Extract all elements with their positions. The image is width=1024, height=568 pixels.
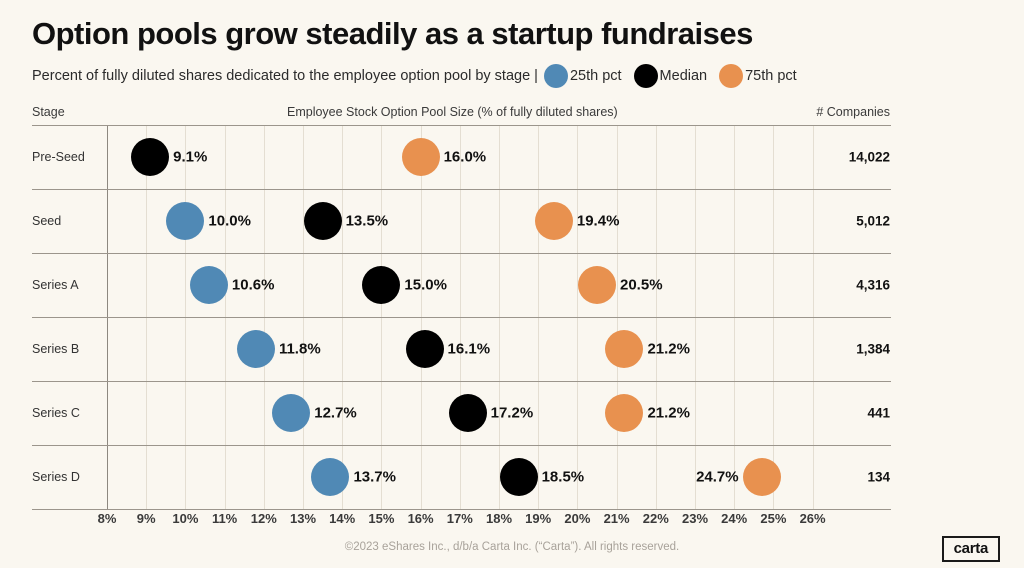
- row-separator: [32, 509, 891, 510]
- data-point-label: 21.2%: [647, 341, 690, 358]
- data-point-75th-pct[interactable]: [535, 202, 573, 240]
- page-title: Option pools grow steadily as a startup …: [32, 16, 753, 52]
- x-axis-tick: 19%: [525, 511, 551, 526]
- data-point-25th-pct[interactable]: [237, 330, 275, 368]
- data-point-25th-pct[interactable]: [272, 394, 310, 432]
- data-point-label: 24.7%: [696, 469, 739, 486]
- table-row[interactable]: Pre-Seed14,0229.1%16.0%: [0, 125, 1024, 189]
- legend-median-label: Median: [660, 68, 708, 84]
- x-axis-tick: 24%: [721, 511, 747, 526]
- legend-25th-pct: 25th pct: [544, 64, 632, 88]
- row-value-companies: 441: [867, 406, 890, 421]
- data-point-median[interactable]: [449, 394, 487, 432]
- data-point-label: 17.2%: [491, 405, 534, 422]
- x-axis-tick: 11%: [212, 511, 237, 526]
- subtitle-and-legend: Percent of fully diluted shares dedicate…: [32, 64, 809, 88]
- x-axis-tick: 22%: [643, 511, 669, 526]
- chart-page: Option pools grow steadily as a startup …: [0, 0, 1024, 568]
- x-axis-tick: 13%: [290, 511, 316, 526]
- legend-75th-pct-label: 75th pct: [745, 68, 797, 84]
- legend-25th-pct-dot-icon: [544, 64, 568, 88]
- legend-75th-pct: 75th pct: [719, 64, 807, 88]
- x-axis-tick: 23%: [682, 511, 708, 526]
- row-value-companies: 1,384: [856, 342, 890, 357]
- data-point-label: 12.7%: [314, 405, 357, 422]
- row-label-stage: Series A: [32, 278, 79, 292]
- data-point-median[interactable]: [131, 138, 169, 176]
- data-point-25th-pct[interactable]: [190, 266, 228, 304]
- x-axis-tick: 14%: [329, 511, 355, 526]
- legend: 25th pctMedian75th pct: [544, 64, 809, 88]
- data-point-median[interactable]: [362, 266, 400, 304]
- x-axis-tick: 10%: [172, 511, 198, 526]
- column-header-pool-size: Employee Stock Option Pool Size (% of fu…: [287, 105, 618, 119]
- data-point-label: 21.2%: [647, 405, 690, 422]
- column-header-companies: # Companies: [816, 105, 890, 119]
- column-header-stage: Stage: [32, 105, 65, 119]
- data-point-median[interactable]: [304, 202, 342, 240]
- data-point-75th-pct[interactable]: [605, 394, 643, 432]
- data-point-label: 11.8%: [279, 341, 321, 358]
- data-point-label: 18.5%: [542, 469, 585, 486]
- data-point-label: 10.0%: [208, 213, 251, 230]
- legend-25th-pct-label: 25th pct: [570, 68, 622, 84]
- row-value-companies: 4,316: [856, 278, 890, 293]
- data-point-label: 13.5%: [346, 213, 389, 230]
- data-point-label: 15.0%: [404, 277, 447, 294]
- table-row[interactable]: Series D13413.7%18.5%24.7%: [0, 445, 1024, 509]
- data-point-label: 20.5%: [620, 277, 663, 294]
- row-value-companies: 5,012: [856, 214, 890, 229]
- data-point-75th-pct[interactable]: [402, 138, 440, 176]
- legend-75th-pct-dot-icon: [719, 64, 743, 88]
- carta-logo: carta: [942, 536, 1000, 562]
- x-axis-tick: 15%: [368, 511, 394, 526]
- row-label-stage: Series B: [32, 342, 79, 356]
- x-axis-tick: 20%: [564, 511, 590, 526]
- x-axis-tick: 12%: [251, 511, 277, 526]
- data-point-25th-pct[interactable]: [166, 202, 204, 240]
- table-row[interactable]: Series C44112.7%17.2%21.2%: [0, 381, 1024, 445]
- footer-copyright: ©2023 eShares Inc., d/b/a Carta Inc. (“C…: [0, 541, 1024, 553]
- data-point-label: 16.0%: [444, 149, 487, 166]
- data-point-label: 16.1%: [448, 341, 491, 358]
- row-value-companies: 134: [867, 470, 890, 485]
- x-axis-tick: 16%: [408, 511, 434, 526]
- legend-median: Median: [634, 64, 718, 88]
- table-row[interactable]: Series A4,31610.6%15.0%20.5%: [0, 253, 1024, 317]
- table-top-rule: [32, 125, 891, 126]
- table-row[interactable]: Series B1,38411.8%16.1%21.2%: [0, 317, 1024, 381]
- x-axis-tick: 18%: [486, 511, 512, 526]
- data-point-median[interactable]: [406, 330, 444, 368]
- row-value-companies: 14,022: [849, 150, 890, 165]
- data-point-75th-pct[interactable]: [743, 458, 781, 496]
- table-row[interactable]: Seed5,01210.0%13.5%19.4%: [0, 189, 1024, 253]
- row-label-stage: Series D: [32, 470, 80, 484]
- data-point-label: 10.6%: [232, 277, 275, 294]
- x-axis-tick: 8%: [98, 511, 117, 526]
- data-point-25th-pct[interactable]: [311, 458, 349, 496]
- row-label-stage: Pre-Seed: [32, 150, 85, 164]
- x-axis: 8%9%10%11%12%13%14%15%16%17%18%19%20%21%…: [107, 511, 891, 533]
- data-point-label: 13.7%: [353, 469, 396, 486]
- x-axis-tick: 25%: [760, 511, 786, 526]
- subtitle-text: Percent of fully diluted shares dedicate…: [32, 68, 538, 84]
- data-point-median[interactable]: [500, 458, 538, 496]
- x-axis-tick: 17%: [447, 511, 473, 526]
- data-point-75th-pct[interactable]: [578, 266, 616, 304]
- data-point-label: 19.4%: [577, 213, 620, 230]
- data-point-75th-pct[interactable]: [605, 330, 643, 368]
- x-axis-tick: 21%: [604, 511, 630, 526]
- x-axis-tick: 9%: [137, 511, 156, 526]
- legend-median-dot-icon: [634, 64, 658, 88]
- x-axis-tick: 26%: [800, 511, 826, 526]
- row-label-stage: Seed: [32, 214, 61, 228]
- row-label-stage: Series C: [32, 406, 80, 420]
- data-point-label: 9.1%: [173, 149, 207, 166]
